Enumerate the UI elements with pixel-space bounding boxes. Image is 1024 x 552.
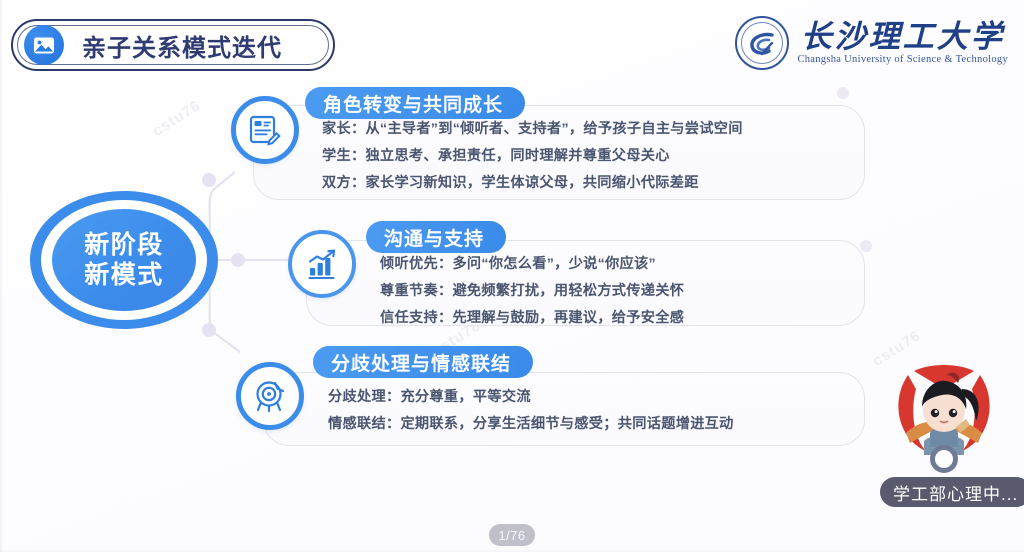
section-line: 倾听优先：多问“你怎么看”，少说“你应该” — [380, 251, 684, 278]
section-line: 分歧处理：充分尊重，平等交流 — [328, 384, 734, 411]
hub-label-line1: 新阶段 — [84, 230, 164, 261]
section-body-2: 倾听优先：多问“你怎么看”，少说“你应该” 尊重节奏：避免频繁打扰，用轻松方式传… — [380, 251, 684, 332]
section-body-3: 分歧处理：充分尊重，平等交流 情感联结：定期联系，分享生活细节与感受；共同话题增… — [328, 384, 734, 438]
section-title-badge-1: 角色转变与共同成长 — [305, 87, 525, 119]
hub-label-line2: 新模式 — [84, 260, 164, 291]
bar-chart-growth-icon — [288, 230, 356, 298]
section-line: 尊重节奏：避免频繁打扰，用轻松方式传递关怀 — [380, 278, 684, 305]
mascot-avatar-icon — [884, 355, 1004, 473]
mascot-label: 学工部心理中... — [880, 477, 1024, 507]
page-title: 亲子关系模式迭代 — [82, 28, 282, 63]
section-line: 信任支持：先理解与鼓励，再建议，给予安全感 — [380, 305, 684, 332]
target-check-icon — [236, 362, 304, 430]
section-line: 学生：独立思考、承担责任，同时理解并尊重父母关心 — [322, 143, 743, 170]
section-line: 双方：家长学习新知识，学生体谅父母，共同缩小代际差距 — [322, 170, 743, 197]
section-line: 情感联结：定期联系，分享生活细节与感受；共同话题增进互动 — [328, 411, 734, 438]
slide-canvas: 亲子关系模式迭代 长沙理工大学 Changsha University of S… — [0, 0, 1024, 552]
image-icon — [24, 25, 64, 65]
center-hub: 新阶段 新模式 — [30, 191, 218, 329]
page-indicator: 1/76 — [489, 524, 535, 546]
section-title-badge-3: 分歧处理与情感联结 — [313, 346, 533, 378]
hub-core: 新阶段 新模式 — [52, 209, 196, 311]
section-title-badge-2: 沟通与支持 — [366, 221, 506, 253]
document-edit-icon — [231, 96, 299, 164]
section-body-1: 家长：从“主导者”到“倾听者、支持者”，给予孩子自主与尝试空间 学生：独立思考、… — [322, 116, 743, 197]
section-line: 家长：从“主导者”到“倾听者、支持者”，给予孩子自主与尝试空间 — [322, 116, 743, 143]
